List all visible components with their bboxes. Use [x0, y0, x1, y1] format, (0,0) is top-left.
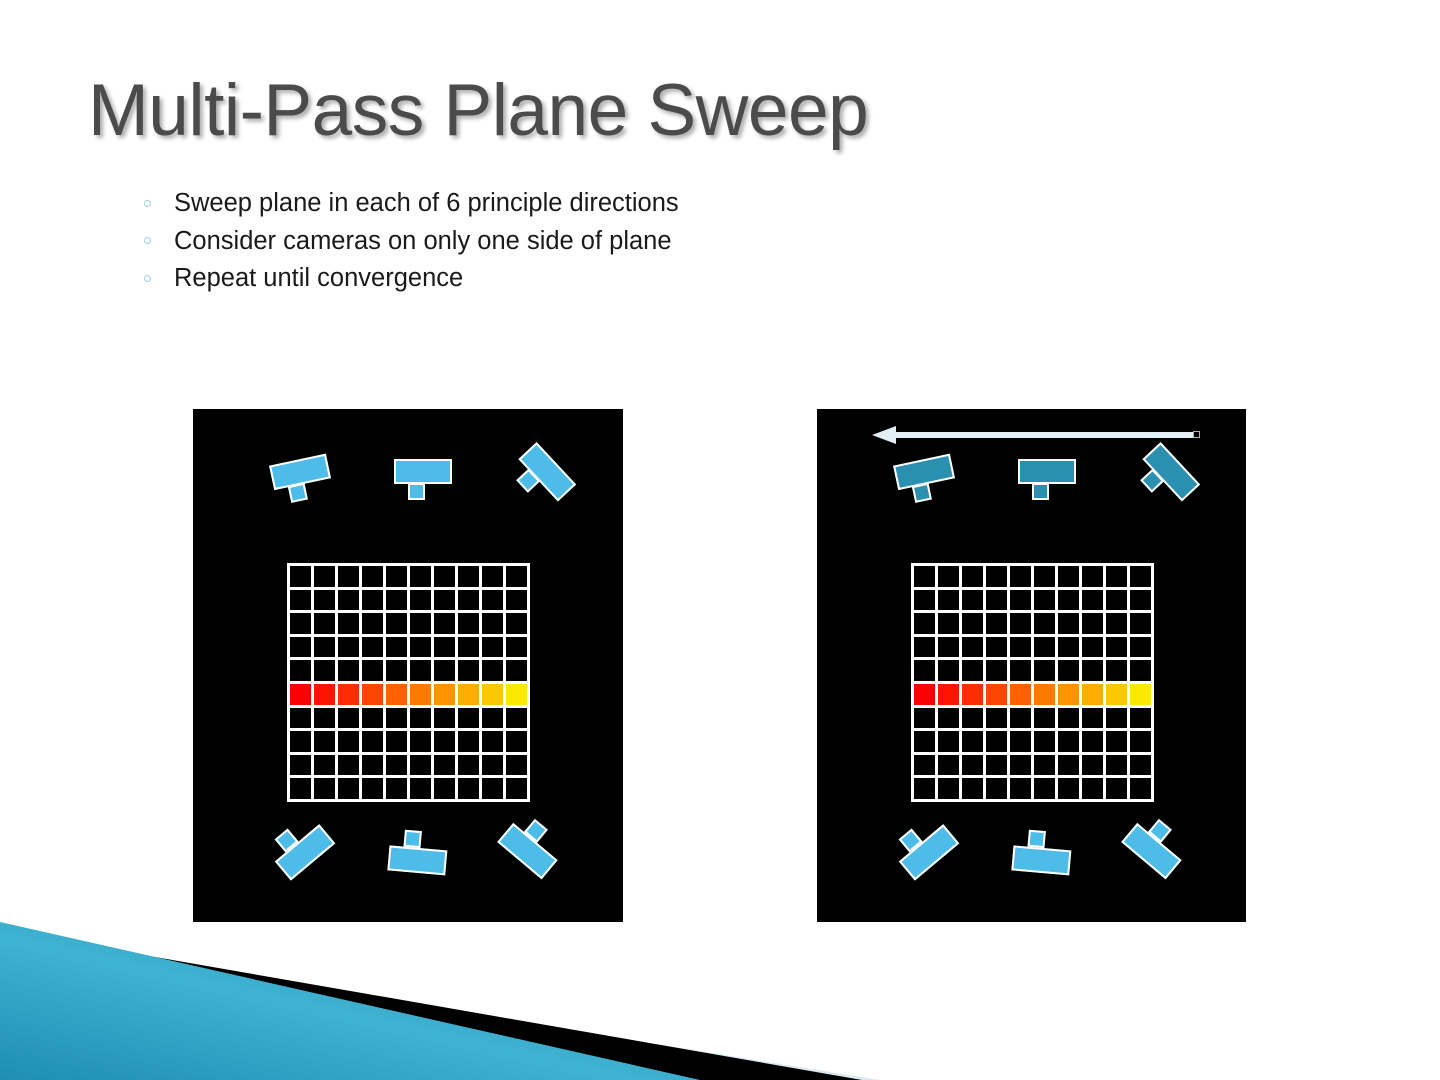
voxel-cell: [1130, 778, 1151, 799]
voxel-cell: [434, 637, 455, 658]
list-item: Repeat until convergence: [140, 260, 679, 298]
voxel-cell: [1082, 613, 1103, 634]
voxel-cell: [1058, 637, 1079, 658]
voxel-cell: [338, 566, 359, 587]
voxel-cell: [386, 778, 407, 799]
voxel-cell: [962, 590, 983, 611]
voxel-cell: [1058, 613, 1079, 634]
voxel-cell: [386, 566, 407, 587]
list-item: Consider cameras on only one side of pla…: [140, 223, 679, 261]
voxel-cell: [938, 590, 959, 611]
voxel-cell-sweep: [986, 684, 1007, 705]
voxel-cell: [506, 637, 527, 658]
voxel-cell: [914, 613, 935, 634]
voxel-cell: [410, 613, 431, 634]
voxel-cell: [1082, 731, 1103, 752]
voxel-cell-sweep: [1106, 684, 1127, 705]
arrow-shaft: [894, 432, 1197, 438]
voxel-cell: [458, 778, 479, 799]
voxel-cell: [938, 778, 959, 799]
voxel-cell: [314, 637, 335, 658]
voxel-cell: [914, 755, 935, 776]
voxel-cell: [1106, 613, 1127, 634]
voxel-cell: [314, 755, 335, 776]
voxel-cell: [410, 566, 431, 587]
voxel-cell: [986, 755, 1007, 776]
bullet-marker-icon: [144, 200, 151, 207]
decor-teal-band: [0, 922, 700, 1080]
voxel-cell: [386, 590, 407, 611]
voxel-cell: [482, 613, 503, 634]
voxel-cell-sweep: [290, 684, 311, 705]
voxel-cell: [410, 637, 431, 658]
voxel-cell: [1130, 637, 1151, 658]
camera-lens: [1027, 830, 1045, 848]
voxel-cell: [338, 708, 359, 729]
voxel-cell: [506, 778, 527, 799]
voxel-cell: [962, 778, 983, 799]
voxel-cell: [1106, 660, 1127, 681]
voxel-cell: [338, 637, 359, 658]
voxel-cell: [314, 660, 335, 681]
voxel-cell: [434, 660, 455, 681]
voxel-cell: [338, 660, 359, 681]
voxel-cell: [386, 708, 407, 729]
voxel-cell: [410, 660, 431, 681]
voxel-cell: [1034, 637, 1055, 658]
voxel-cell-sweep: [458, 684, 479, 705]
voxel-cell: [1082, 566, 1103, 587]
voxel-cell: [290, 731, 311, 752]
voxel-cell: [1034, 731, 1055, 752]
voxel-cell: [1058, 708, 1079, 729]
camera-lens: [288, 483, 308, 503]
camera-icon-bottom-left: [888, 810, 962, 882]
voxel-cell-sweep: [434, 684, 455, 705]
voxel-cell: [362, 708, 383, 729]
voxel-cell: [362, 590, 383, 611]
voxel-cell: [1034, 590, 1055, 611]
voxel-cell: [386, 731, 407, 752]
voxel-cell: [362, 778, 383, 799]
voxel-cell: [290, 613, 311, 634]
voxel-cell: [1010, 590, 1031, 611]
voxel-cell: [1010, 613, 1031, 634]
voxel-cell: [914, 778, 935, 799]
camera-icon-bottom-right: [496, 810, 570, 882]
voxel-cell: [386, 637, 407, 658]
voxel-cell: [1106, 637, 1127, 658]
voxel-cell: [434, 755, 455, 776]
voxel-cell: [1130, 590, 1151, 611]
camera-body: [394, 459, 452, 484]
voxel-cell: [1106, 778, 1127, 799]
voxel-cell: [962, 637, 983, 658]
voxel-grid-left: [287, 563, 530, 802]
voxel-cell: [962, 613, 983, 634]
voxel-cell: [362, 755, 383, 776]
voxel-cell: [1058, 755, 1079, 776]
voxel-cell: [938, 637, 959, 658]
voxel-cell: [290, 708, 311, 729]
camera-icon-bottom-left: [264, 810, 338, 882]
camera-icon-top-right: [1128, 442, 1201, 516]
voxel-cell: [1130, 708, 1151, 729]
voxel-cell: [458, 590, 479, 611]
voxel-cell: [386, 660, 407, 681]
voxel-cell: [314, 566, 335, 587]
bullet-marker-icon: [144, 237, 151, 244]
voxel-cell: [962, 755, 983, 776]
voxel-cell: [290, 566, 311, 587]
voxel-cell: [458, 566, 479, 587]
bullet-list: Sweep plane in each of 6 principle direc…: [140, 185, 679, 298]
voxel-cell: [986, 708, 1007, 729]
camera-icon-bottom-right: [1120, 810, 1194, 882]
voxel-cell-sweep: [506, 684, 527, 705]
voxel-cell: [1034, 660, 1055, 681]
voxel-cell: [362, 637, 383, 658]
voxel-cell: [1034, 755, 1055, 776]
voxel-cell-sweep: [314, 684, 335, 705]
camera-icon-bottom-center: [1011, 828, 1075, 877]
voxel-cell: [986, 778, 1007, 799]
voxel-cell: [314, 590, 335, 611]
voxel-cell: [482, 708, 503, 729]
voxel-cell-sweep: [1034, 684, 1055, 705]
page-title: Multi-Pass Plane Sweep: [88, 74, 868, 147]
voxel-cell: [1058, 590, 1079, 611]
voxel-cell: [458, 708, 479, 729]
voxel-cell: [1106, 590, 1127, 611]
voxel-cell: [1010, 637, 1031, 658]
voxel-grid-right: [911, 563, 1154, 802]
voxel-cell: [938, 731, 959, 752]
decor-pale-band: [0, 938, 880, 1080]
voxel-cell: [1058, 660, 1079, 681]
voxel-cell: [458, 613, 479, 634]
voxel-cell: [914, 731, 935, 752]
voxel-cell: [482, 778, 503, 799]
voxel-cell: [506, 708, 527, 729]
voxel-cell: [362, 731, 383, 752]
camera-lens: [1032, 483, 1049, 500]
voxel-cell: [938, 708, 959, 729]
voxel-cell-sweep: [410, 684, 431, 705]
voxel-cell: [1130, 613, 1151, 634]
voxel-cell-sweep: [338, 684, 359, 705]
voxel-cell: [914, 637, 935, 658]
voxel-cell: [962, 731, 983, 752]
voxel-cell: [290, 637, 311, 658]
voxel-cell: [1010, 660, 1031, 681]
voxel-cell: [986, 731, 1007, 752]
voxel-cell: [290, 755, 311, 776]
voxel-cell: [1058, 778, 1079, 799]
voxel-cell: [962, 660, 983, 681]
voxel-cell: [338, 755, 359, 776]
voxel-cell: [434, 708, 455, 729]
voxel-cell: [434, 590, 455, 611]
voxel-cell: [410, 755, 431, 776]
voxel-cell: [410, 708, 431, 729]
voxel-cell: [386, 613, 407, 634]
voxel-cell: [290, 778, 311, 799]
voxel-cell: [1082, 660, 1103, 681]
voxel-cell: [482, 755, 503, 776]
voxel-cell: [938, 755, 959, 776]
voxel-cell: [986, 660, 1007, 681]
voxel-cell: [362, 660, 383, 681]
voxel-cell: [338, 613, 359, 634]
camera-icon-bottom-center: [387, 828, 451, 877]
camera-body: [387, 845, 447, 875]
voxel-cell: [962, 566, 983, 587]
list-item-label: Consider cameras on only one side of pla…: [174, 227, 672, 255]
voxel-cell-sweep: [962, 684, 983, 705]
voxel-cell: [1010, 778, 1031, 799]
voxel-cell: [938, 566, 959, 587]
voxel-cell: [482, 731, 503, 752]
camera-icon-top-right: [504, 442, 577, 516]
voxel-cell: [482, 566, 503, 587]
voxel-cell: [482, 660, 503, 681]
arrow-head-icon: [872, 426, 896, 444]
camera-icon-top-center: [1018, 459, 1078, 503]
voxel-cell: [506, 590, 527, 611]
voxel-cell: [362, 566, 383, 587]
voxel-cell: [458, 731, 479, 752]
camera-body: [1018, 459, 1076, 484]
voxel-cell: [1010, 755, 1031, 776]
camera-icon-top-left: [893, 453, 961, 509]
list-item-label: Repeat until convergence: [174, 264, 463, 292]
voxel-cell: [986, 590, 1007, 611]
arrow-end-handle: [1193, 431, 1200, 438]
voxel-cell: [1082, 778, 1103, 799]
voxel-cell: [434, 731, 455, 752]
voxel-cell: [314, 708, 335, 729]
voxel-cell: [1034, 708, 1055, 729]
bullet-marker-icon: [144, 275, 151, 282]
camera-lens: [912, 483, 932, 503]
voxel-cell: [506, 660, 527, 681]
voxel-cell: [938, 613, 959, 634]
voxel-cell: [962, 708, 983, 729]
camera-lens: [403, 830, 421, 848]
voxel-cell-sweep: [914, 684, 935, 705]
voxel-cell: [314, 731, 335, 752]
voxel-cell: [314, 778, 335, 799]
camera-body: [1011, 845, 1071, 875]
voxel-cell: [986, 566, 1007, 587]
voxel-cell: [986, 637, 1007, 658]
voxel-cell: [434, 613, 455, 634]
voxel-cell-sweep: [1010, 684, 1031, 705]
voxel-cell: [1034, 613, 1055, 634]
voxel-cell: [1082, 637, 1103, 658]
voxel-cell: [1010, 566, 1031, 587]
list-item-label: Sweep plane in each of 6 principle direc…: [174, 189, 679, 217]
camera-icon-top-center: [394, 459, 454, 503]
voxel-cell: [1058, 566, 1079, 587]
list-item: Sweep plane in each of 6 principle direc…: [140, 185, 679, 223]
voxel-cell-sweep: [938, 684, 959, 705]
voxel-cell: [338, 731, 359, 752]
voxel-cell: [914, 708, 935, 729]
voxel-cell: [1010, 708, 1031, 729]
voxel-cell: [1106, 755, 1127, 776]
voxel-cell: [1130, 660, 1151, 681]
voxel-cell: [1082, 590, 1103, 611]
voxel-cell: [290, 660, 311, 681]
voxel-cell: [410, 590, 431, 611]
voxel-cell: [410, 778, 431, 799]
decor-black-band: [0, 930, 862, 1080]
voxel-cell: [1130, 731, 1151, 752]
voxel-cell: [434, 778, 455, 799]
sweep-direction-arrow-icon: [872, 424, 1197, 446]
voxel-cell: [1034, 778, 1055, 799]
voxel-cell: [1010, 731, 1031, 752]
voxel-cell-sweep: [1130, 684, 1151, 705]
voxel-cell: [386, 755, 407, 776]
voxel-cell: [458, 637, 479, 658]
voxel-cell: [410, 731, 431, 752]
camera-lens: [408, 483, 425, 500]
voxel-cell-sweep: [1058, 684, 1079, 705]
voxel-cell: [1130, 755, 1151, 776]
voxel-cell: [914, 566, 935, 587]
voxel-cell: [434, 566, 455, 587]
voxel-cell: [1034, 566, 1055, 587]
voxel-cell-sweep: [482, 684, 503, 705]
voxel-cell: [1058, 731, 1079, 752]
voxel-cell: [458, 660, 479, 681]
voxel-cell: [458, 755, 479, 776]
voxel-cell: [1106, 566, 1127, 587]
voxel-cell: [938, 660, 959, 681]
voxel-cell: [1106, 708, 1127, 729]
voxel-cell: [1106, 731, 1127, 752]
voxel-cell: [482, 637, 503, 658]
voxel-cell: [1082, 755, 1103, 776]
voxel-cell: [506, 566, 527, 587]
voxel-cell-sweep: [1082, 684, 1103, 705]
voxel-cell: [314, 613, 335, 634]
voxel-cell: [482, 590, 503, 611]
voxel-cell: [1082, 708, 1103, 729]
voxel-cell: [506, 613, 527, 634]
voxel-cell: [1130, 566, 1151, 587]
camera-icon-top-left: [269, 453, 337, 509]
voxel-cell: [290, 590, 311, 611]
voxel-cell-sweep: [386, 684, 407, 705]
voxel-cell: [506, 731, 527, 752]
voxel-cell: [362, 613, 383, 634]
voxel-cell: [914, 660, 935, 681]
voxel-cell: [506, 755, 527, 776]
voxel-cell: [986, 613, 1007, 634]
voxel-cell-sweep: [362, 684, 383, 705]
voxel-cell: [338, 590, 359, 611]
voxel-cell: [338, 778, 359, 799]
voxel-cell: [914, 590, 935, 611]
